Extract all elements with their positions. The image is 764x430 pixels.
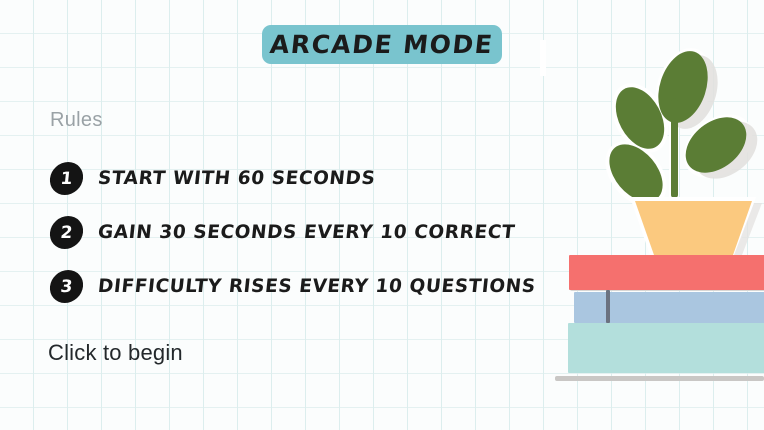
bookmark-icon (606, 290, 610, 323)
stack-base-shadow (555, 376, 764, 381)
rule-number-badge: 3 (48, 270, 84, 303)
leaf-group (593, 41, 764, 219)
rule-text: DIFFICULTY RISES EVERY 10 QUESTIONS (97, 276, 537, 297)
rule-number-badge: 2 (48, 216, 84, 249)
pot-shape (630, 197, 762, 255)
title-banner: ARCADE MODE (262, 25, 502, 64)
plant-icon (540, 40, 764, 255)
list-item: 2 GAIN 30 SECONDS EVERY 10 CORRECT (50, 214, 550, 251)
list-item: 3 DIFFICULTY RISES EVERY 10 QUESTIONS (50, 268, 550, 305)
rule-number-badge: 1 (48, 162, 84, 195)
page-title: ARCADE MODE (269, 30, 495, 59)
top-book (569, 255, 764, 290)
rules-list: 1 START WITH 60 SECONDS 2 GAIN 30 SECOND… (50, 160, 550, 322)
rule-text: GAIN 30 SECONDS EVERY 10 CORRECT (97, 222, 516, 243)
potted-plant-illustration (540, 40, 764, 385)
middle-book (574, 292, 764, 323)
rules-label: Rules (50, 109, 103, 132)
arcade-mode-screen: ARCADE MODE Rules 1 START WITH 60 SECOND… (0, 0, 764, 430)
start-game-button[interactable]: Click to begin (48, 340, 183, 366)
rule-text: START WITH 60 SECONDS (97, 168, 377, 189)
list-item: 1 START WITH 60 SECONDS (50, 160, 550, 197)
bottom-book (568, 323, 764, 373)
